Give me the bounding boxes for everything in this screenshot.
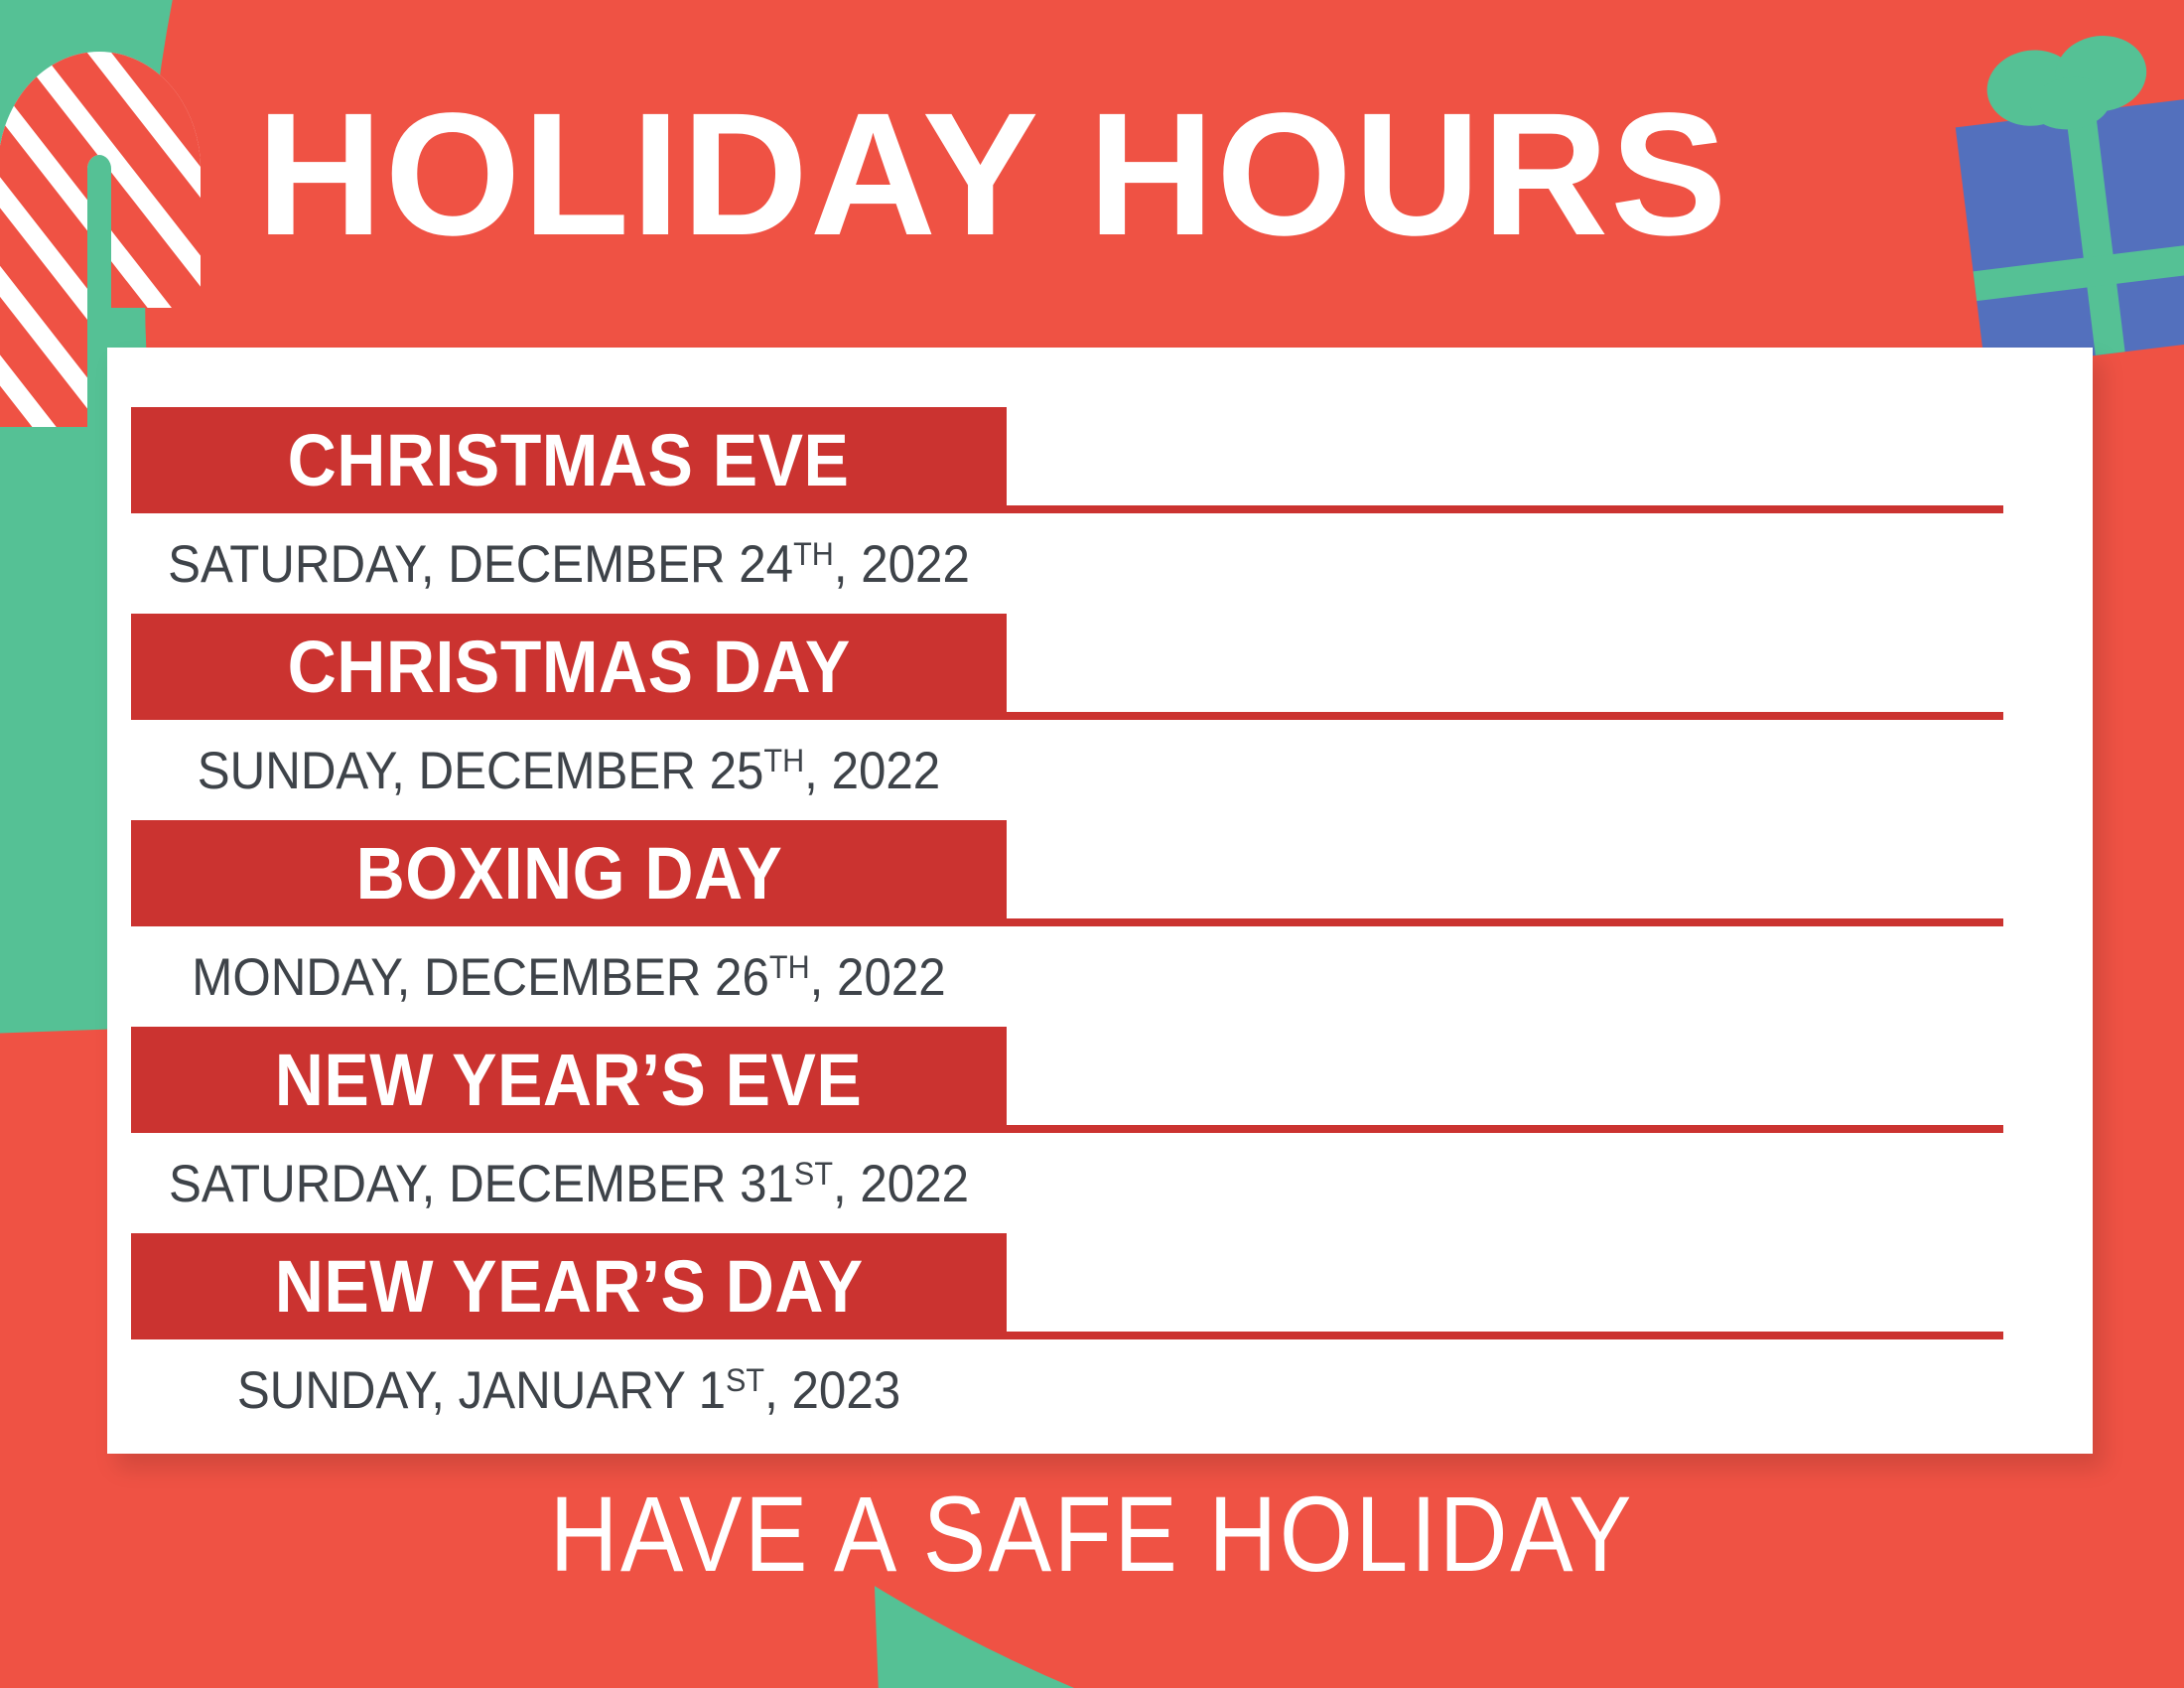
page-title: HOLIDAY HOURS: [0, 87, 1985, 262]
hours-row: CHRISTMAS EVE SATURDAY, DECEMBER 24TH, 2…: [107, 407, 2093, 616]
hours-row-title: CHRISTMAS DAY: [287, 631, 850, 704]
date-ordinal: ST: [726, 1361, 764, 1398]
date-ordinal: TH: [793, 535, 834, 572]
date-ordinal: ST: [794, 1155, 833, 1192]
hours-row-rule: [1007, 505, 2003, 513]
hours-row-title: NEW YEAR’S DAY: [275, 1250, 864, 1324]
date-suffix: , 2022: [834, 535, 970, 594]
hours-row-rule: [1007, 712, 2003, 720]
hours-row-bar: CHRISTMAS EVE: [131, 407, 1007, 513]
hours-row-date: SUNDAY, DECEMBER 25TH, 2022: [162, 731, 976, 801]
holiday-hours-poster: HOLIDAY HOURS CHRISTMAS EVE SATURDAY, DE…: [0, 0, 2184, 1688]
date-ordinal: TH: [769, 948, 810, 985]
hours-card: CHRISTMAS EVE SATURDAY, DECEMBER 24TH, 2…: [107, 348, 2093, 1454]
hours-row-bar: NEW YEAR’S DAY: [131, 1233, 1007, 1339]
hours-row-bar: CHRISTMAS DAY: [131, 614, 1007, 720]
hours-list: CHRISTMAS EVE SATURDAY, DECEMBER 24TH, 2…: [107, 348, 2093, 1454]
date-ordinal: TH: [763, 742, 804, 778]
date-suffix: , 2023: [764, 1361, 900, 1420]
hours-row-date: SUNDAY, JANUARY 1ST, 2023: [162, 1350, 976, 1421]
date-prefix: SATURDAY, DECEMBER 31: [169, 1155, 794, 1213]
hours-row-rule: [1007, 1332, 2003, 1339]
hours-row-date: SATURDAY, DECEMBER 24TH, 2022: [162, 524, 976, 595]
date-prefix: MONDAY, DECEMBER 26: [192, 948, 769, 1007]
hours-row-bar: BOXING DAY: [131, 820, 1007, 926]
hours-row-date: MONDAY, DECEMBER 26TH, 2022: [162, 937, 976, 1008]
hours-row-title: CHRISTMAS EVE: [288, 424, 850, 497]
hours-row-title: NEW YEAR’S EVE: [275, 1044, 863, 1117]
hours-row-rule: [1007, 1125, 2003, 1133]
date-suffix: , 2022: [833, 1155, 969, 1213]
hours-row: CHRISTMAS DAY SUNDAY, DECEMBER 25TH, 202…: [107, 614, 2093, 822]
hours-row: NEW YEAR’S EVE SATURDAY, DECEMBER 31ST, …: [107, 1027, 2093, 1235]
hours-row-rule: [1007, 918, 2003, 926]
date-prefix: SUNDAY, JANUARY 1: [237, 1361, 726, 1420]
date-suffix: , 2022: [810, 948, 946, 1007]
hours-row: BOXING DAY MONDAY, DECEMBER 26TH, 2022: [107, 820, 2093, 1029]
footer-message: HAVE A SAFE HOLIDAY: [131, 1479, 2053, 1589]
hours-row: NEW YEAR’S DAY SUNDAY, JANUARY 1ST, 2023: [107, 1233, 2093, 1442]
hours-row-date: SATURDAY, DECEMBER 31ST, 2022: [162, 1144, 976, 1214]
date-prefix: SATURDAY, DECEMBER 24: [168, 535, 793, 594]
hours-row-title: BOXING DAY: [355, 837, 782, 911]
hours-row-bar: NEW YEAR’S EVE: [131, 1027, 1007, 1133]
date-suffix: , 2022: [804, 742, 940, 800]
date-prefix: SUNDAY, DECEMBER 25: [198, 742, 764, 800]
